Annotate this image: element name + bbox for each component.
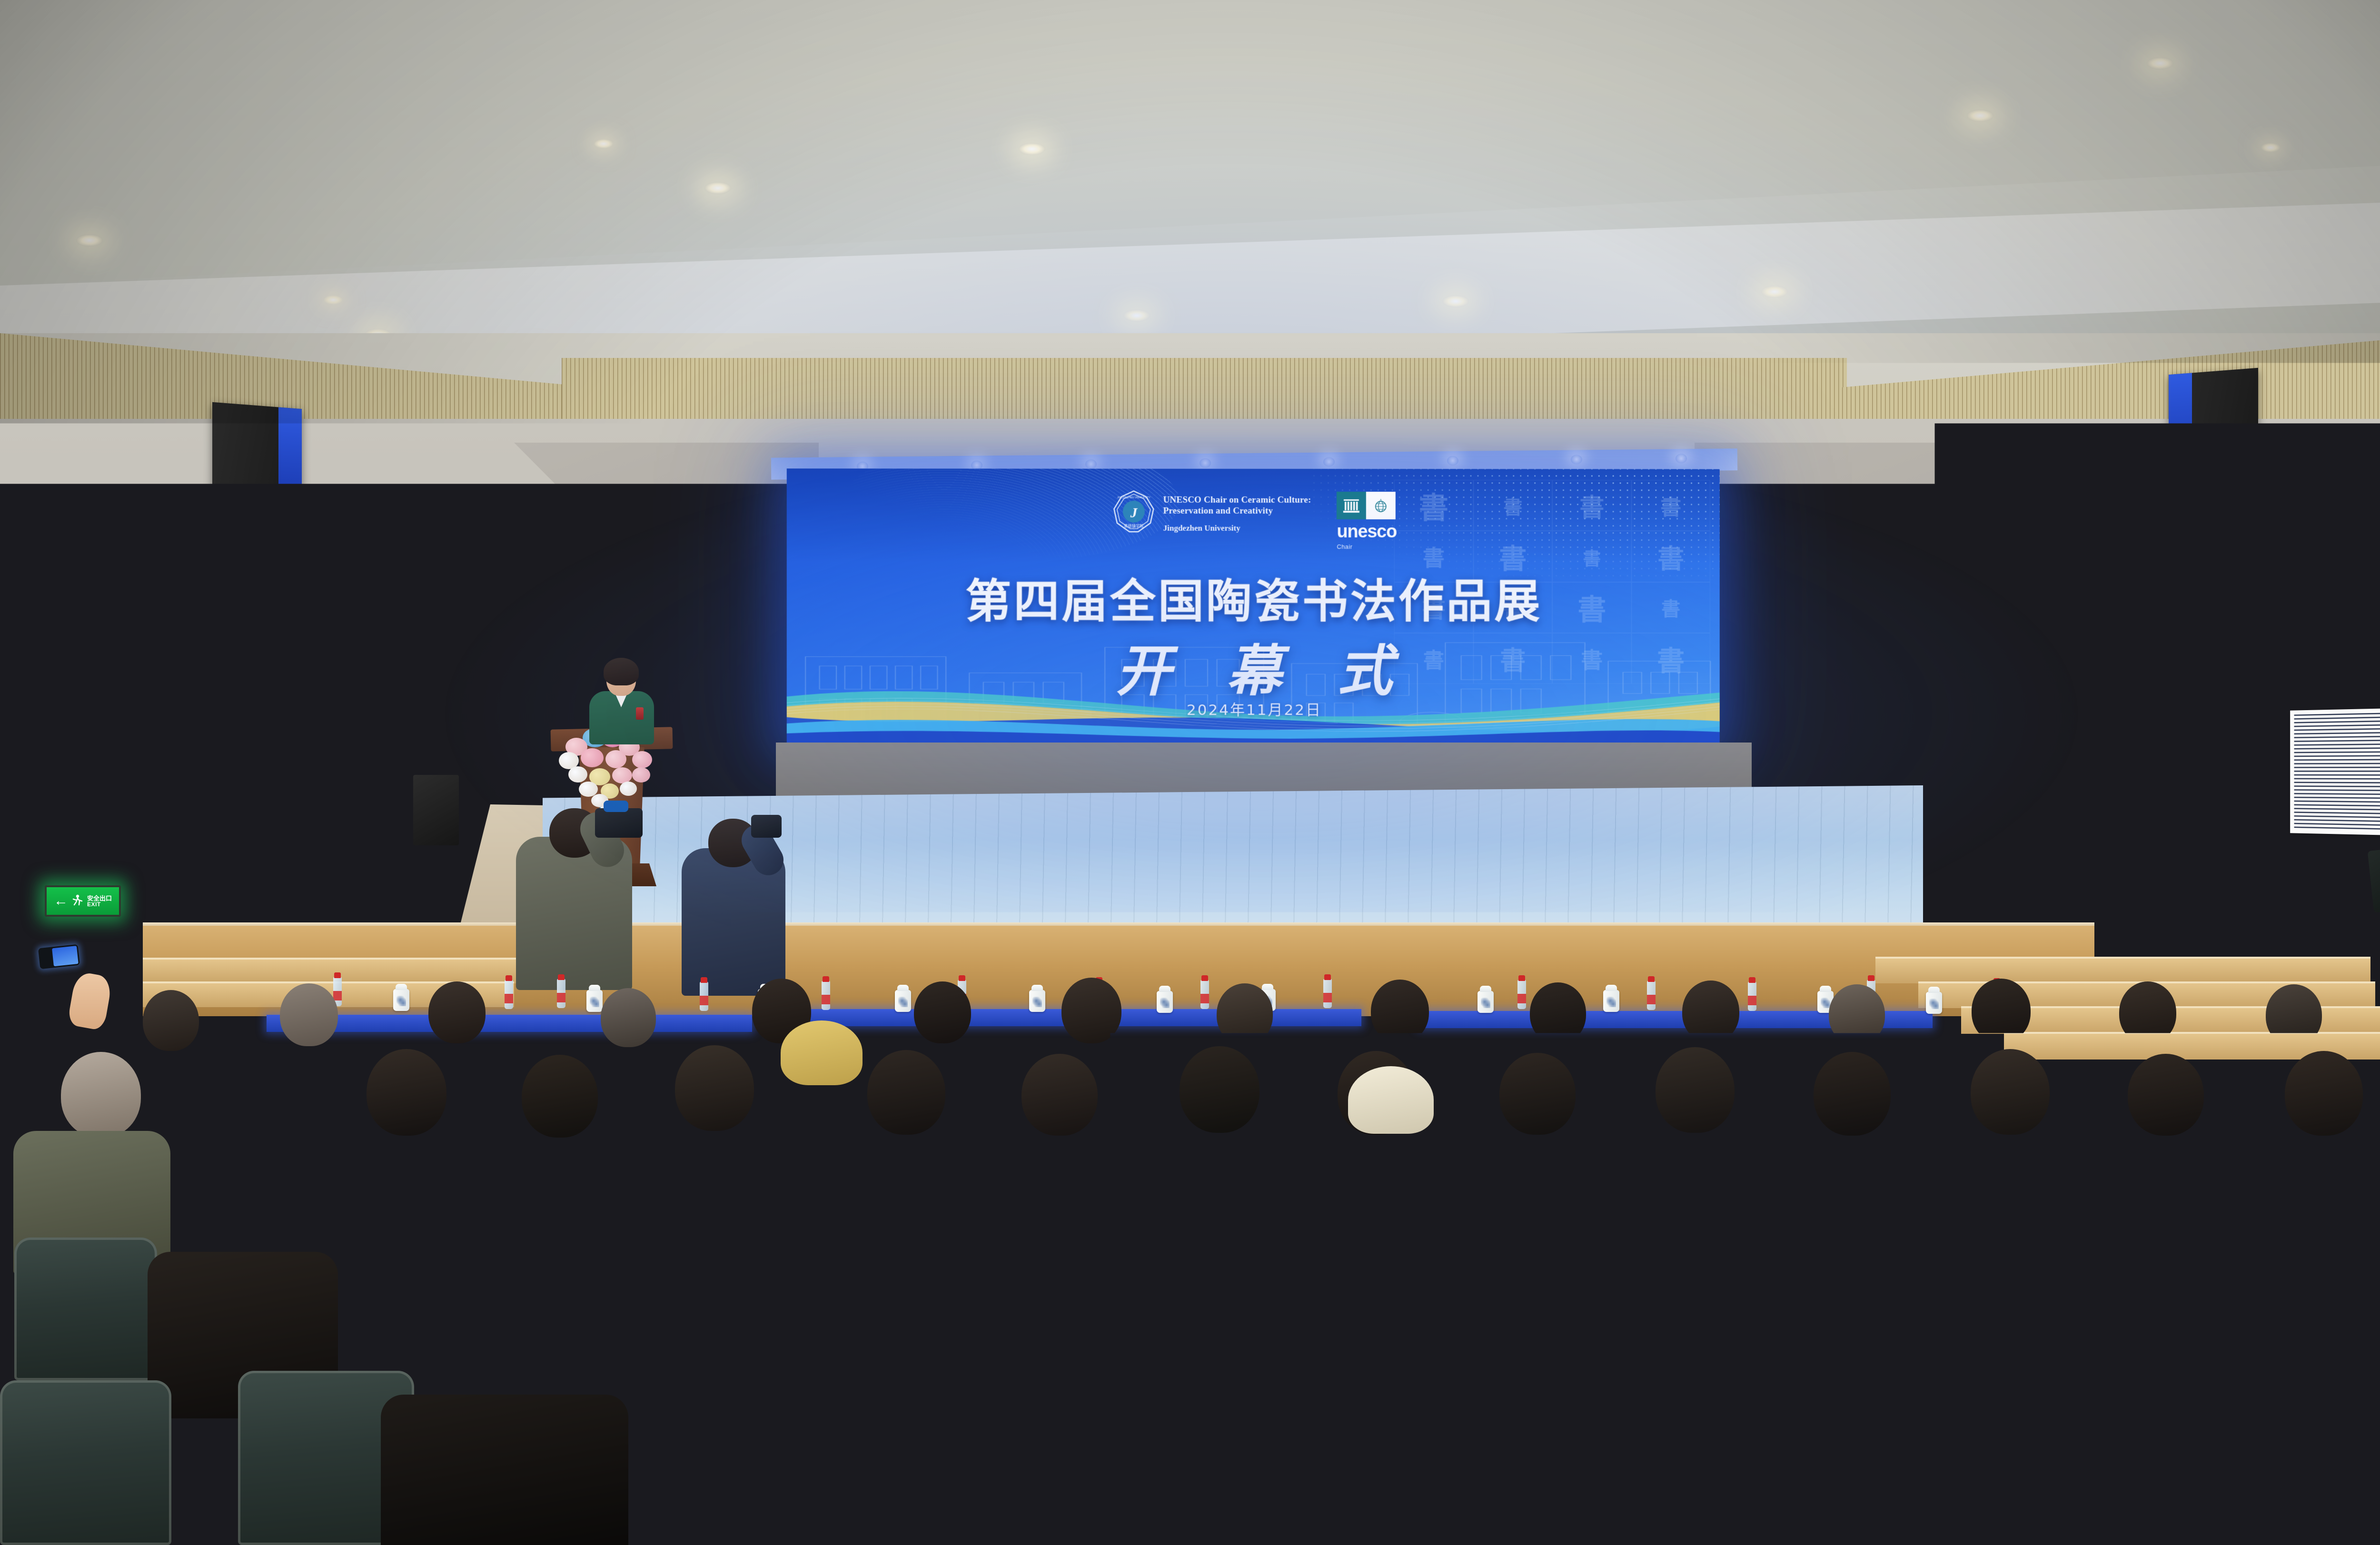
- audience-head: [2119, 981, 2176, 1043]
- water-bottle: [822, 980, 830, 1010]
- audience-seat[interactable]: [1761, 1361, 1942, 1545]
- water-bottle: [1517, 980, 1526, 1009]
- video-camera: [595, 808, 643, 838]
- svg-text:A: A: [1380, 499, 1382, 502]
- unesco-globe-icon: A: [1366, 492, 1396, 519]
- ceiling-downlight: [324, 295, 343, 305]
- unesco-temple-icon: [1337, 492, 1366, 519]
- audience-head: [61, 1052, 141, 1138]
- audience-head: [914, 981, 971, 1043]
- emergency-lamp: [507, 570, 527, 586]
- podium-speaker: [586, 662, 658, 743]
- stage-equipment-left: [413, 775, 459, 845]
- photographer-left: [514, 781, 643, 990]
- audience-head: [280, 983, 338, 1046]
- water-bottle: [1748, 981, 1756, 1011]
- audience-seat[interactable]: [0, 1380, 171, 1545]
- ceremony-subtitle: 开 幕 式: [787, 626, 1720, 707]
- emergency-lamp: [1950, 562, 1970, 578]
- audience-head: [867, 1050, 945, 1135]
- audience-head: [962, 1285, 1091, 1423]
- water-bottle: [1647, 980, 1656, 1010]
- smartphone-recording: [38, 944, 80, 970]
- stage-equipment-right-2: [2081, 767, 2112, 834]
- emergency-lamp: [1930, 562, 1950, 578]
- audience-hat: [781, 1020, 863, 1085]
- emergency-exit-sign: ← 安全出口 EXIT: [45, 885, 121, 917]
- water-bottle: [505, 980, 513, 1009]
- svg-text:景德镇学院: 景德镇学院: [1124, 524, 1143, 528]
- unesco-wordmark: unesco: [1337, 523, 1397, 541]
- emergency-lamp: [5, 579, 25, 595]
- ceiling-downlight: [1967, 109, 1993, 122]
- audience-seat[interactable]: [14, 1238, 157, 1380]
- ceiling-downlight: [76, 234, 103, 247]
- led-logo-row: J JINGDEZHEN UNIVERSITY 景德镇学院 UNESCO Cha…: [787, 489, 1720, 550]
- audience-shoulders: [381, 1395, 628, 1545]
- ceiling-downlight: [704, 182, 731, 194]
- audience-head: [2285, 1051, 2363, 1136]
- ceiling-downlight: [1123, 309, 1150, 322]
- emergency-lamp: [489, 570, 509, 586]
- stage-step: [1875, 957, 2370, 983]
- audience-head: [1314, 1280, 1446, 1421]
- audience-head: [1961, 1146, 2062, 1255]
- led-screen: 書 書 書 書 書 書 書 書 書 書 書 書 書 書 書 書: [787, 468, 1720, 745]
- running-person-icon: [72, 894, 83, 908]
- svg-text:JINGDEZHEN UNIVERSITY: JINGDEZHEN UNIVERSITY: [1117, 496, 1150, 499]
- audience-head: [1061, 978, 1121, 1043]
- stage-step: [143, 958, 552, 983]
- ceiling-downlight: [1019, 143, 1045, 155]
- audience-head: [895, 1146, 996, 1255]
- audience-head: [675, 1045, 754, 1131]
- exhibition-title: 第四届全国陶瓷书法作品展: [787, 564, 1720, 630]
- emergency-light-right: [2370, 582, 2380, 595]
- audience-head: [1814, 1052, 1891, 1136]
- audience-head: [362, 1148, 460, 1254]
- audience-head: [1247, 1144, 1349, 1254]
- ceremony-date: 2024年11月22日: [787, 698, 1720, 720]
- unesco-chair-line2: Preservation and Creativity: [1163, 505, 1311, 517]
- unesco-logo: A unesco Chair: [1337, 490, 1397, 550]
- unesco-chair-org: Jingdezhen University: [1163, 524, 1311, 533]
- porcelain-tea-cup: [1926, 992, 1942, 1014]
- audience-head: [1785, 1152, 1882, 1257]
- speaker-side-glow: [278, 407, 302, 496]
- ceiling-downlight: [2147, 57, 2173, 69]
- audience-head: [1071, 1152, 1168, 1257]
- photographer-right: [681, 796, 800, 996]
- audience-head: [1633, 1293, 1758, 1427]
- wall-speaker-right: [2169, 368, 2258, 462]
- emergency-junction-box: [1986, 593, 1998, 604]
- water-bottle: [1200, 980, 1209, 1009]
- audience-head: [1656, 1047, 1735, 1133]
- vip-table-light-strip: [267, 1015, 752, 1032]
- audience-head: [1433, 1155, 1529, 1258]
- ceiling-downlight: [2261, 143, 2280, 152]
- exit-label-cn: 安全出口: [87, 895, 112, 901]
- ceiling-downlight: [594, 139, 613, 149]
- water-bottle: [557, 979, 565, 1008]
- water-bottle: [1323, 979, 1332, 1008]
- stage-equipment-right: [2024, 756, 2073, 828]
- audience-head: [367, 1049, 446, 1136]
- audience-head: [601, 988, 656, 1047]
- emergency-light-left-wing: [489, 583, 519, 595]
- jingdezhen-university-emblem: J JINGDEZHEN UNIVERSITY 景德镇学院: [1112, 489, 1156, 533]
- audience-head: [2142, 1154, 2238, 1258]
- unesco-chair-line1: UNESCO Chair on Ceramic Culture:: [1163, 494, 1311, 505]
- exit-label-en: EXIT: [87, 901, 101, 907]
- water-bottle: [700, 981, 708, 1011]
- audience-head: [1499, 1053, 1576, 1135]
- exit-arrow-icon: ←: [54, 894, 68, 908]
- audience-head: [714, 1158, 809, 1260]
- audience-head: [1021, 1054, 1098, 1136]
- porcelain-tea-cup: [393, 989, 409, 1011]
- audience-head: [1829, 984, 1885, 1044]
- audience-head: [1217, 983, 1273, 1044]
- audience-hand: [21, 975, 75, 1040]
- phone-screen: [52, 946, 79, 966]
- audience-head: [428, 981, 486, 1043]
- audience-head: [143, 990, 199, 1051]
- audience-hat: [1348, 1066, 1434, 1134]
- emergency-light-left: [5, 592, 35, 604]
- porcelain-tea-cup: [1157, 991, 1173, 1013]
- air-vent-grille: [2290, 708, 2380, 836]
- audience-head: [1971, 1049, 2050, 1135]
- photo-camera: [751, 815, 782, 838]
- emergency-light-center-right: [1930, 574, 1962, 588]
- porcelain-tea-cup: [1029, 990, 1045, 1012]
- porcelain-tea-cup: [586, 990, 603, 1012]
- auditorium-photo: 書 書 書 書 書 書 書 書 書 書 書 書 書 書 書 書: [0, 0, 2380, 1545]
- audience-head: [522, 1055, 598, 1138]
- porcelain-tea-cup: [1478, 991, 1494, 1013]
- emergency-junction-box: [46, 614, 59, 625]
- audience-head: [2318, 1149, 2380, 1256]
- porcelain-tea-cup: [1603, 990, 1619, 1012]
- svg-text:J: J: [1130, 505, 1138, 520]
- audience-head: [1609, 1147, 1709, 1255]
- porcelain-tea-cup: [895, 990, 911, 1012]
- audience-head: [1180, 1046, 1259, 1133]
- camera-lens-hood: [604, 801, 628, 812]
- unesco-chair-sub: Chair: [1337, 543, 1352, 550]
- audience-head: [628, 1304, 751, 1436]
- ceiling-downlight: [1442, 295, 1469, 307]
- audience-head: [538, 1154, 635, 1258]
- audience-seat[interactable]: [743, 1357, 923, 1545]
- wall-speaker-left: [212, 402, 302, 496]
- audience-head: [1682, 980, 1739, 1042]
- ceiling-downlight: [1761, 286, 1788, 298]
- audience-head: [2128, 1054, 2204, 1136]
- audience-head: [204, 1059, 281, 1142]
- speaker-badge: [636, 707, 644, 720]
- speaker-side-glow: [2169, 373, 2192, 462]
- audience-head: [1371, 980, 1429, 1042]
- audience-shoulders: [900, 1404, 1157, 1545]
- audience-head: [1530, 982, 1586, 1043]
- speaker-hair: [604, 658, 639, 685]
- audience-head: [1971, 1287, 2100, 1425]
- emergency-lamp: [24, 579, 44, 595]
- audience-head: [2266, 984, 2322, 1045]
- audience-head: [1972, 979, 2031, 1042]
